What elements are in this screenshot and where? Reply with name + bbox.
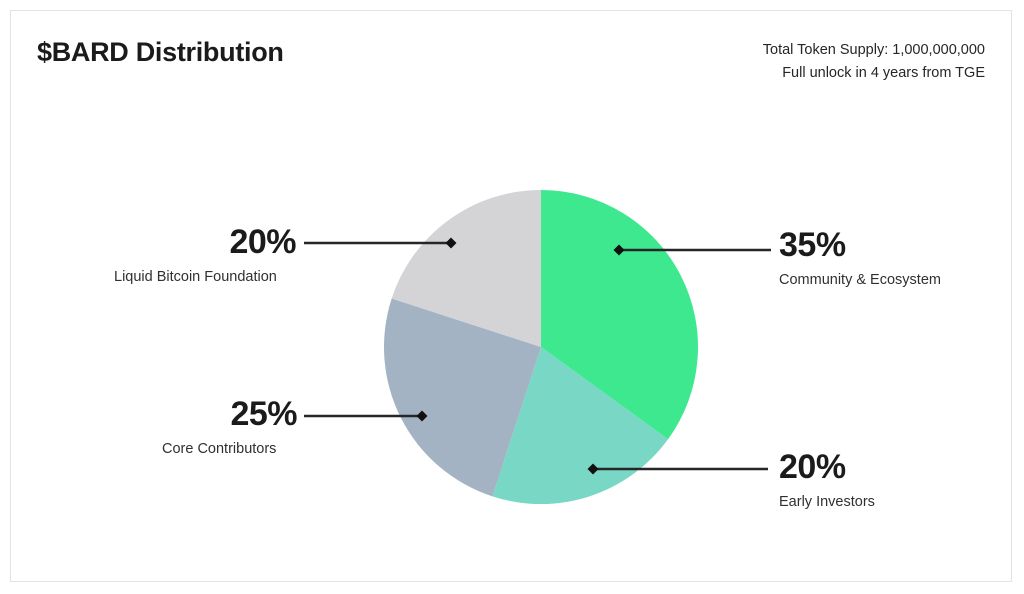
callout-early-investors[interactable]: 20% Early Investors: [779, 450, 875, 512]
callout-percent-community-ecosystem: 35%: [779, 228, 941, 262]
callout-label-community-ecosystem: Community & Ecosystem: [779, 270, 941, 290]
callout-label-core-contributors: Core Contributors: [162, 439, 297, 459]
chart-card: $BARD Distribution Total Token Supply: 1…: [10, 10, 1012, 582]
callout-label-liquid-bitcoin-foundation: Liquid Bitcoin Foundation: [114, 267, 296, 287]
callout-core-contributors[interactable]: 25% Core Contributors: [162, 397, 297, 459]
callout-liquid-bitcoin-foundation[interactable]: 20% Liquid Bitcoin Foundation: [114, 225, 296, 287]
callout-community-ecosystem[interactable]: 35% Community & Ecosystem: [779, 228, 941, 290]
callout-label-early-investors: Early Investors: [779, 492, 875, 512]
pie-chart: 20% Liquid Bitcoin Foundation 25% Core C…: [11, 11, 1013, 583]
callout-percent-liquid-bitcoin-foundation: 20%: [114, 225, 296, 259]
callout-percent-early-investors: 20%: [779, 450, 875, 484]
callout-percent-core-contributors: 25%: [162, 397, 297, 431]
